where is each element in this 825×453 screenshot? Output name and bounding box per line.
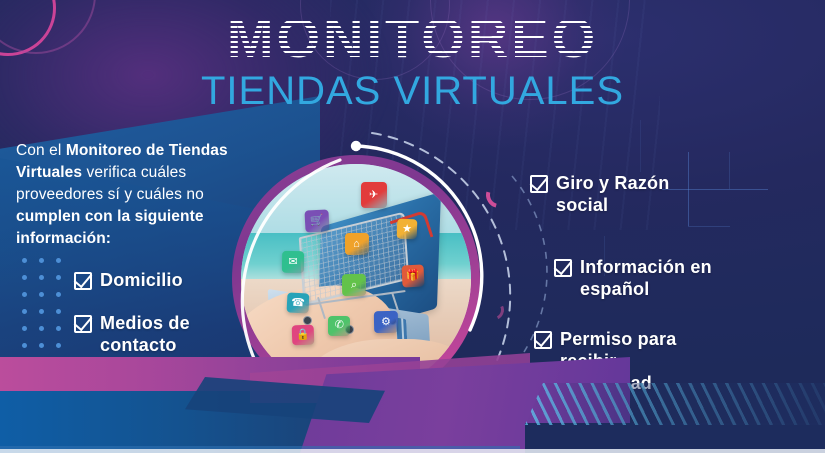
- intro-paragraph: Con el Monitoreo de Tiendas Virtuales ve…: [16, 140, 248, 250]
- dot-grid-dot: [56, 275, 61, 280]
- checkbox-checked-icon[interactable]: [530, 175, 548, 193]
- checkbox-checked-icon[interactable]: [74, 315, 92, 333]
- dot-grid-dot: [39, 292, 44, 297]
- poster-title: MONITOREO: [0, 6, 825, 70]
- phone-cube: ☎: [286, 292, 309, 313]
- checklist-label: Giro y Razón social: [556, 172, 710, 216]
- dot-grid-dot: [56, 258, 61, 263]
- checklist-label: Medios de contacto: [100, 312, 224, 356]
- intro-text-bold-2: cumplen con la siguiente información:: [16, 208, 204, 247]
- dot-grid-dot: [39, 326, 44, 331]
- whatsapp-cube: ✆: [328, 316, 350, 336]
- poster-subtitle: TIENDAS VIRTUALES: [0, 68, 825, 114]
- search-cube: ⌕: [342, 274, 366, 296]
- checkbox-checked-icon[interactable]: [74, 272, 92, 290]
- checklist-item-informacion-en-espanol[interactable]: Información en español: [554, 256, 729, 300]
- checkbox-checked-icon[interactable]: [554, 259, 572, 277]
- dot-grid-dot: [39, 343, 44, 348]
- dot-grid-dot: [56, 309, 61, 314]
- dot-grid-dot: [39, 258, 44, 263]
- poster-title-text: MONITOREO: [225, 6, 600, 70]
- dot-grid-decor: [22, 258, 72, 370]
- dot-grid-dot: [39, 309, 44, 314]
- chat-cube: ✉: [282, 251, 304, 273]
- checklist-item-domicilio[interactable]: Domicilio: [74, 269, 244, 291]
- bottom-stripes-fade: [525, 383, 825, 425]
- gift-cube: 🎁: [401, 265, 424, 288]
- footer-line: [0, 449, 825, 453]
- checklist-label: Domicilio: [100, 269, 183, 291]
- checklist-item-medios-de-contacto[interactable]: Medios de contacto: [74, 312, 224, 356]
- checklist-item-giro-y-razon-social[interactable]: Giro y Razón social: [530, 172, 710, 216]
- cart-cube: 🛒: [305, 209, 330, 232]
- dot-grid-dot: [22, 275, 27, 280]
- title-block: MONITOREO TIENDAS VIRTUALES: [0, 6, 825, 126]
- dot-grid-dot: [22, 343, 27, 348]
- home-cube: ⌂: [345, 233, 369, 255]
- dot-grid-dot: [22, 292, 27, 297]
- checklist-label: Información en español: [580, 256, 729, 300]
- dot-grid-dot: [22, 309, 27, 314]
- dot-grid-dot: [56, 326, 61, 331]
- lock-cube: 🔒: [291, 325, 314, 346]
- infographic-poster: MONITOREO TIENDAS VIRTUALES Con el Monit…: [0, 0, 825, 453]
- dot-grid-dot: [22, 258, 27, 263]
- airplane-cube: ✈: [361, 182, 387, 208]
- tag-cube: ★: [397, 219, 418, 240]
- dot-grid-dot: [56, 292, 61, 297]
- dot-grid-dot: [56, 343, 61, 348]
- dot-grid-dot: [22, 326, 27, 331]
- intro-text-1: Con el: [16, 142, 66, 159]
- gear-cube: ⚙: [374, 311, 398, 333]
- dot-grid-dot: [39, 275, 44, 280]
- checkbox-checked-icon[interactable]: [534, 331, 552, 349]
